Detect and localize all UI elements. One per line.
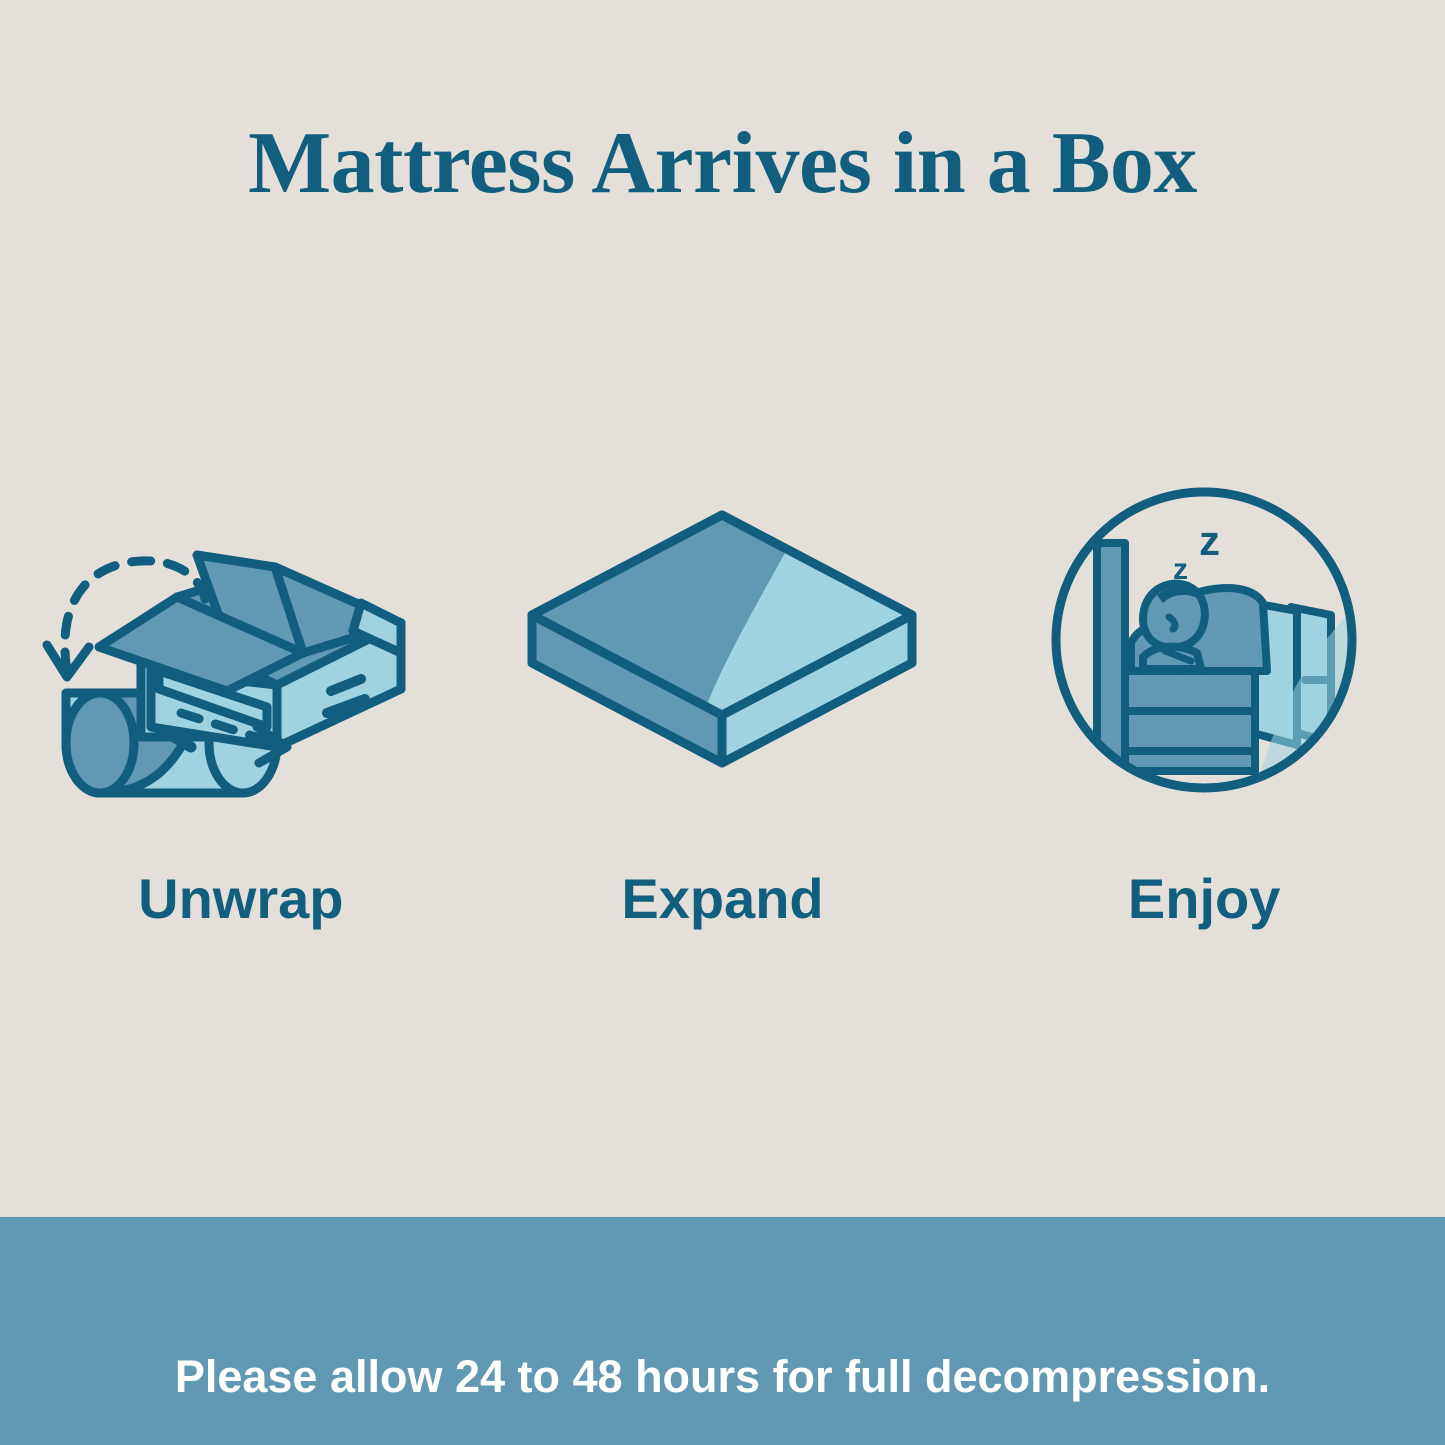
page-title: Mattress Arrives in a Box bbox=[0, 112, 1445, 216]
footer-band: Please allow 24 to 48 hours for full dec… bbox=[0, 1217, 1445, 1445]
step-enjoy-art: z z bbox=[994, 470, 1414, 810]
steps-row: Unwrap bbox=[0, 470, 1445, 970]
footer-message: Please allow 24 to 48 hours for full dec… bbox=[175, 1350, 1270, 1404]
step-expand-art bbox=[512, 470, 932, 810]
step-enjoy: z z Enjoy bbox=[984, 470, 1424, 930]
step-unwrap: Unwrap bbox=[21, 470, 461, 930]
step-unwrap-art bbox=[31, 470, 451, 810]
step-expand: Expand bbox=[502, 470, 942, 930]
mattress-in-a-box-infographic: Mattress Arrives in a Box bbox=[0, 0, 1445, 1445]
step-expand-label: Expand bbox=[621, 868, 823, 930]
step-unwrap-label: Unwrap bbox=[138, 868, 343, 930]
step-enjoy-label: Enjoy bbox=[1128, 868, 1280, 930]
zzz-small: z bbox=[1173, 553, 1188, 586]
person-sleeping-in-bed-icon: z z bbox=[1039, 475, 1369, 805]
flat-mattress-icon bbox=[512, 475, 932, 805]
box-with-rolled-mattress-icon bbox=[31, 475, 451, 805]
zzz-large: z bbox=[1199, 517, 1220, 564]
